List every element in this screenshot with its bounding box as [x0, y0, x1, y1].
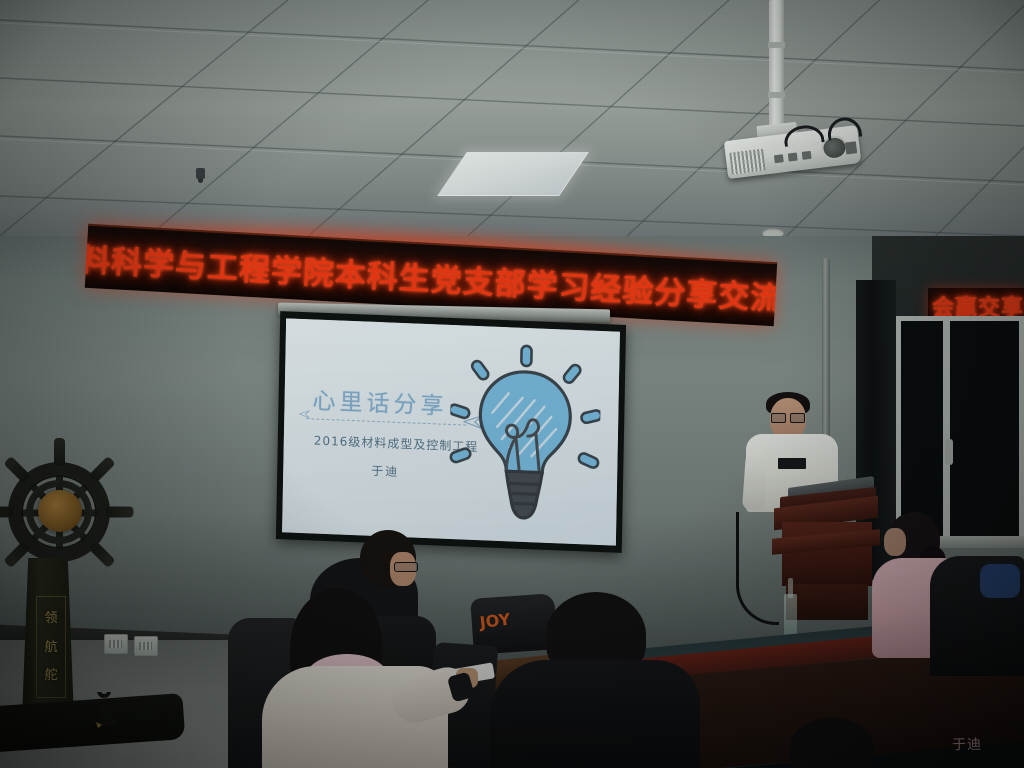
presentation-slide: 心里话分享 2016级材料成型及控制工程 于迪	[282, 318, 620, 545]
anchor-icon	[86, 692, 122, 730]
plaque-char-1: 领	[44, 612, 57, 625]
paper-plane-small-icon	[298, 409, 310, 419]
audience-member-dark-right	[930, 556, 1024, 676]
ship-wheel-ornament: 领 航 舵	[0, 424, 144, 724]
glasses-icon	[394, 562, 418, 572]
ship-wheel-plaque: 领 航 舵	[36, 596, 66, 698]
slide-title: 心里话分享	[312, 381, 448, 420]
ship-wheel-brass-hub	[38, 490, 82, 532]
projector-mount-pole	[769, 0, 784, 128]
water-bottle[interactable]	[784, 578, 797, 638]
audience-member-cream-jacket	[252, 588, 452, 768]
slide-presenter-name: 于迪	[371, 462, 399, 480]
audience-member-foreground	[490, 592, 690, 768]
sprinkler-head-icon	[196, 168, 205, 179]
plaque-char-3: 舵	[44, 669, 57, 682]
sweatshirt-chest-logo	[778, 458, 806, 469]
audience-member-bottom-edge	[760, 718, 930, 768]
ship-wheel	[0, 448, 124, 576]
lightbulb-icon	[448, 341, 601, 527]
projection-screen-frame: 心里话分享 2016级材料成型及控制工程 于迪	[276, 311, 626, 553]
photo-scene: 材料科学与工程学院本科生党支部学习经验分享交流会 会赢交享合 心里话分享 201…	[0, 0, 1024, 768]
window-handle[interactable]	[945, 439, 953, 465]
window-mullion	[943, 321, 950, 537]
plaque-char-2: 航	[44, 641, 57, 654]
projection-screen-surface: 心里话分享 2016级材料成型及控制工程 于迪	[282, 318, 620, 545]
podium	[760, 492, 876, 620]
projector-vent	[729, 149, 765, 175]
glasses-icon	[771, 413, 805, 421]
blue-chair-back	[980, 564, 1020, 598]
window	[896, 316, 1024, 542]
